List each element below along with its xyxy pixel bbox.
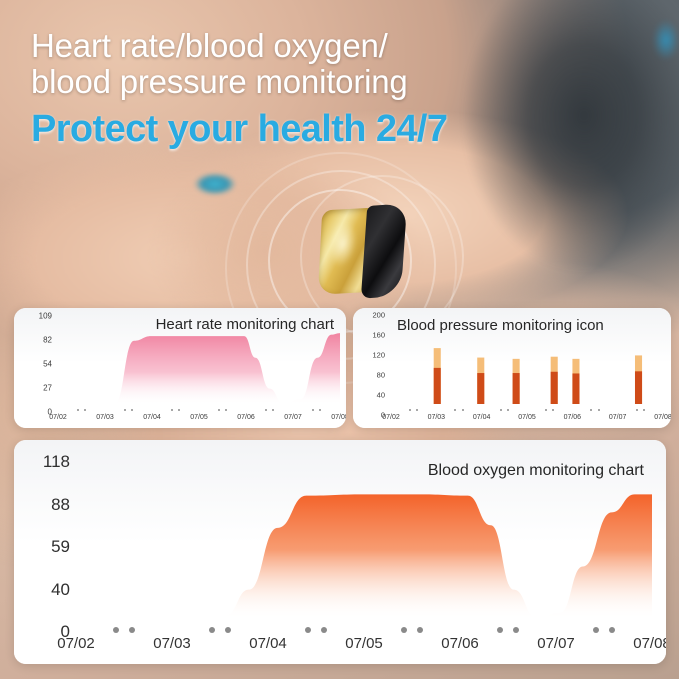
headline-block: Heart rate/blood oxygen/ blood pressure … — [31, 28, 651, 151]
blue-accent-blur — [194, 173, 236, 195]
blood-oxygen-x-label: 07/04 — [249, 635, 287, 652]
blood-pressure-x-label: 07/03 — [428, 414, 446, 421]
blood-pressure-x-axis: 07/0207/0307/0407/0507/0607/0707/08 — [391, 406, 663, 426]
blood-oxygen-x-dot — [417, 627, 423, 633]
blood-pressure-bars — [391, 318, 663, 404]
heart-rate-plot-area — [58, 320, 340, 404]
blood-pressure-y-tick: 40 — [377, 391, 385, 400]
blood-oxygen-x-dot — [497, 627, 503, 633]
blood-pressure-y-tick: 200 — [372, 311, 385, 320]
blood-pressure-x-dot — [643, 409, 645, 411]
blood-oxygen-y-tick: 59 — [51, 537, 70, 557]
heart-rate-x-label: 07/07 — [284, 414, 302, 421]
blood-pressure-bar-diastolic — [551, 372, 558, 404]
blood-pressure-bar-diastolic — [434, 368, 441, 404]
heart-rate-x-dot — [77, 409, 79, 411]
blood-oxygen-x-label: 07/02 — [57, 635, 95, 652]
heart-rate-x-dot — [178, 409, 180, 411]
heart-rate-x-dot — [225, 409, 227, 411]
blood-oxygen-x-dot — [513, 627, 519, 633]
blood-pressure-plot-area — [391, 318, 663, 404]
blood-oxygen-y-tick: 118 — [43, 452, 70, 472]
heart-rate-x-label: 07/03 — [96, 414, 114, 421]
heart-rate-area-path — [58, 320, 340, 404]
blood-pressure-bar-diastolic — [635, 371, 642, 404]
blood-pressure-chart-card: Blood pressure monitoring icon 200160120… — [353, 308, 671, 428]
blood-pressure-x-label: 07/06 — [564, 414, 582, 421]
heart-rate-x-dot — [319, 409, 321, 411]
heart-rate-x-dot — [124, 409, 126, 411]
blood-oxygen-x-label: 07/08 — [633, 635, 666, 652]
blood-oxygen-x-dot — [113, 627, 119, 633]
blood-pressure-y-tick: 160 — [372, 331, 385, 340]
blood-pressure-x-label: 07/05 — [518, 414, 536, 421]
blood-pressure-x-label: 07/07 — [609, 414, 627, 421]
blood-oxygen-x-dot — [609, 627, 615, 633]
heart-rate-x-dot — [131, 409, 133, 411]
blood-pressure-x-dot — [454, 409, 456, 411]
blood-pressure-x-label: 07/08 — [654, 414, 671, 421]
blood-pressure-bar-diastolic — [477, 373, 484, 404]
heart-rate-y-tick: 82 — [43, 336, 52, 345]
heart-rate-y-tick: 54 — [43, 360, 52, 369]
smart-ring-product — [316, 207, 402, 295]
blood-oxygen-x-label: 07/03 — [153, 635, 191, 652]
blood-oxygen-y-tick: 88 — [51, 495, 70, 515]
heart-rate-x-dot — [84, 409, 86, 411]
heart-rate-x-axis: 07/0207/0307/0407/0507/0607/0707/08 — [58, 406, 340, 426]
blood-pressure-x-dot — [590, 409, 592, 411]
blood-oxygen-x-dot — [401, 627, 407, 633]
ring-sensor-module — [361, 203, 407, 298]
heart-rate-x-label: 07/08 — [331, 414, 346, 421]
blood-oxygen-y-tick: 40 — [51, 580, 70, 600]
blood-oxygen-x-label: 07/06 — [441, 635, 479, 652]
heart-rate-x-dot — [312, 409, 314, 411]
blood-oxygen-x-dot — [305, 627, 311, 633]
blood-pressure-y-tick: 80 — [377, 371, 385, 380]
headline-line-2: blood pressure monitoring — [31, 64, 651, 100]
blood-pressure-x-dot — [552, 409, 554, 411]
blood-oxygen-x-label: 07/07 — [537, 635, 575, 652]
heart-rate-x-label: 07/04 — [143, 414, 161, 421]
heart-rate-y-tick: 27 — [43, 384, 52, 393]
blue-accent-blur-2 — [653, 20, 679, 60]
heart-rate-x-dot — [272, 409, 274, 411]
headline-accent-line: Protect your health 24/7 — [31, 107, 651, 151]
heart-rate-x-label: 07/05 — [190, 414, 208, 421]
blood-oxygen-x-dot — [209, 627, 215, 633]
blood-pressure-bar-diastolic — [513, 373, 520, 404]
promo-banner: Heart rate/blood oxygen/ blood pressure … — [0, 0, 679, 679]
headline-line-1: Heart rate/blood oxygen/ — [31, 28, 651, 64]
blood-pressure-x-dot — [636, 409, 638, 411]
blood-pressure-x-dot — [545, 409, 547, 411]
blood-pressure-x-dot — [507, 409, 509, 411]
blood-pressure-y-tick: 120 — [372, 351, 385, 360]
blood-pressure-x-label: 07/04 — [473, 414, 491, 421]
blood-oxygen-y-axis: 1188859400 — [14, 462, 76, 632]
heart-rate-y-tick: 109 — [39, 312, 52, 321]
blood-pressure-x-dot — [598, 409, 600, 411]
blood-oxygen-plot-area — [76, 466, 652, 618]
blood-pressure-bar-diastolic — [572, 373, 579, 404]
blood-oxygen-chart-card: Blood oxygen monitoring chart 1188859400… — [14, 440, 666, 664]
heart-rate-chart-card: Heart rate monitoring chart 1098254270 0… — [14, 308, 346, 428]
blood-pressure-x-label: 07/02 — [382, 414, 400, 421]
blood-oxygen-x-dot — [129, 627, 135, 633]
blood-pressure-x-dot — [500, 409, 502, 411]
blood-oxygen-area-path — [76, 466, 652, 618]
heart-rate-x-dot — [218, 409, 220, 411]
blood-pressure-x-dot — [416, 409, 418, 411]
blood-oxygen-x-axis: 07/0207/0307/0407/0507/0607/0707/08 — [76, 622, 652, 658]
heart-rate-y-axis: 1098254270 — [14, 316, 58, 412]
blood-oxygen-x-label: 07/05 — [345, 635, 383, 652]
heart-rate-x-label: 07/02 — [49, 414, 67, 421]
blood-oxygen-x-dot — [321, 627, 327, 633]
blood-pressure-x-dot — [462, 409, 464, 411]
heart-rate-x-dot — [265, 409, 267, 411]
blood-oxygen-x-dot — [593, 627, 599, 633]
blood-pressure-y-axis: 20016012080400 — [353, 315, 391, 415]
blood-pressure-x-dot — [409, 409, 411, 411]
blood-oxygen-x-dot — [225, 627, 231, 633]
heart-rate-x-dot — [171, 409, 173, 411]
heart-rate-x-label: 07/06 — [237, 414, 255, 421]
